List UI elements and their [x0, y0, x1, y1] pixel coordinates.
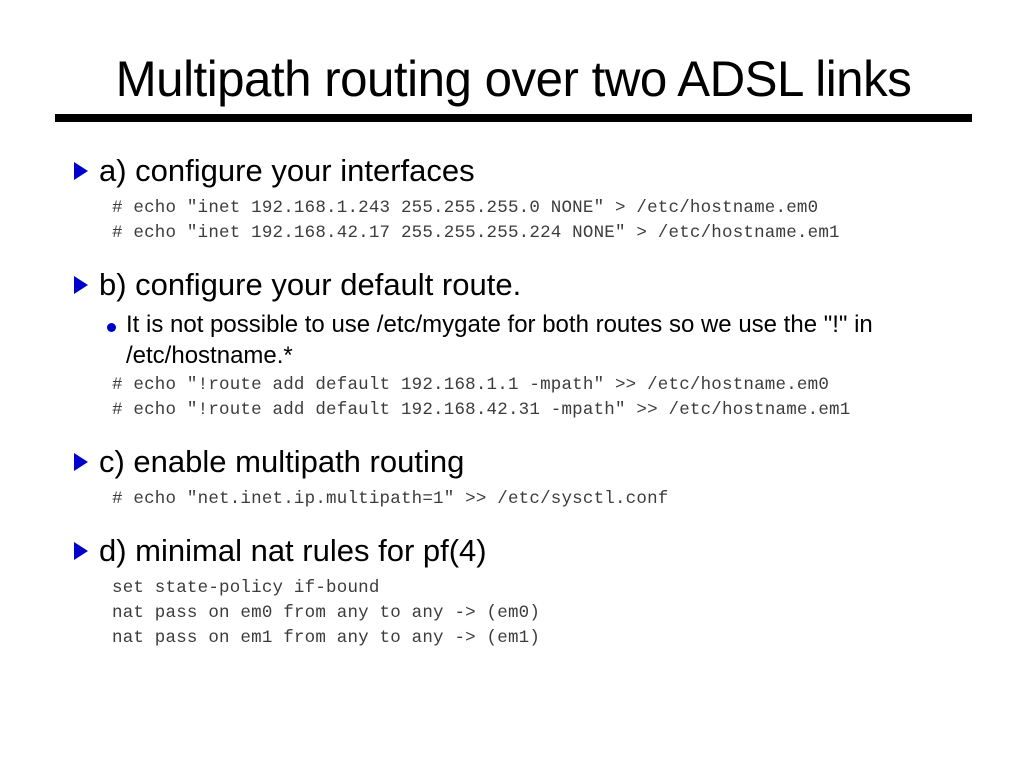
bullet-item-a: a) configure your interfaces — [0, 152, 1024, 190]
code-line: # echo "inet 192.168.1.243 255.255.255.0… — [112, 196, 1024, 221]
section-heading-a: a) configure your interfaces — [99, 152, 475, 190]
code-block-b: # echo "!route add default 192.168.1.1 -… — [0, 373, 1024, 423]
code-line: # echo "!route add default 192.168.1.1 -… — [112, 373, 1024, 398]
presentation-slide: Multipath routing over two ADSL links a)… — [0, 0, 1024, 768]
code-line: nat pass on em0 from any to any -> (em0) — [112, 601, 1024, 626]
code-block-c: # echo "net.inet.ip.multipath=1" >> /etc… — [0, 487, 1024, 512]
code-line: # echo "inet 192.168.42.17 255.255.255.2… — [112, 221, 1024, 246]
section-d: d) minimal nat rules for pf(4) set state… — [0, 532, 1024, 651]
slide-body: a) configure your interfaces # echo "ine… — [0, 152, 1024, 651]
sub-bullet-item-b1: It is not possible to use /etc/mygate fo… — [0, 309, 1024, 371]
page-title: Multipath routing over two ADSL links — [62, 50, 965, 108]
bullet-item-c: c) enable multipath routing — [0, 443, 1024, 481]
code-line: # echo "net.inet.ip.multipath=1" >> /etc… — [112, 487, 1024, 512]
code-line: # echo "!route add default 192.168.42.31… — [112, 398, 1024, 423]
code-line: set state-policy if-bound — [112, 576, 1024, 601]
section-heading-b: b) configure your default route. — [99, 266, 521, 304]
triangle-right-icon — [74, 162, 88, 180]
section-a: a) configure your interfaces # echo "ine… — [0, 152, 1024, 246]
section-heading-d: d) minimal nat rules for pf(4) — [99, 532, 487, 570]
sub-bullet-text: It is not possible to use /etc/mygate fo… — [126, 309, 896, 371]
code-block-a: # echo "inet 192.168.1.243 255.255.255.0… — [0, 196, 1024, 246]
section-b: b) configure your default route. It is n… — [0, 266, 1024, 423]
dot-icon — [107, 323, 116, 332]
triangle-right-icon — [74, 542, 88, 560]
code-block-d: set state-policy if-bound nat pass on em… — [0, 576, 1024, 651]
bullet-item-b: b) configure your default route. — [0, 266, 1024, 304]
triangle-right-icon — [74, 453, 88, 471]
triangle-right-icon — [74, 276, 88, 294]
slide-title-block: Multipath routing over two ADSL links — [55, 50, 972, 122]
bullet-item-d: d) minimal nat rules for pf(4) — [0, 532, 1024, 570]
title-underline-rule — [55, 114, 972, 122]
section-heading-c: c) enable multipath routing — [99, 443, 464, 481]
section-c: c) enable multipath routing # echo "net.… — [0, 443, 1024, 512]
code-line: nat pass on em1 from any to any -> (em1) — [112, 626, 1024, 651]
